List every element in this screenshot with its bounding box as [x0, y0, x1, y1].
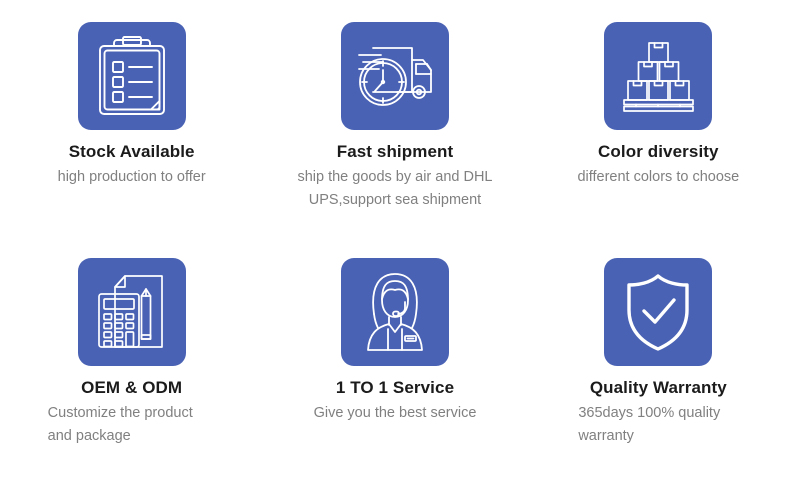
feature-subtitle: different colors to choose — [577, 166, 739, 189]
delivery-truck-clock-icon — [341, 22, 449, 130]
feature-card-one-to-one-service[interactable]: 1 TO 1 Service Give you the best service — [263, 250, 526, 486]
feature-subtitle: Customize the product and package — [48, 402, 216, 448]
feature-title: Stock Available — [69, 141, 195, 163]
features-grid: Stock Available high production to offer — [0, 0, 790, 494]
feature-card-color-diversity[interactable]: Color diversity different colors to choo… — [527, 14, 790, 250]
shield-check-icon — [604, 258, 712, 366]
feature-title: OEM & ODM — [81, 377, 182, 399]
feature-subtitle: 365days 100% quality warranty — [578, 402, 738, 448]
feature-subtitle: Give you the best service — [314, 402, 477, 425]
feature-card-quality-warranty[interactable]: Quality Warranty 365days 100% quality wa… — [527, 250, 790, 486]
feature-title: 1 TO 1 Service — [336, 377, 454, 399]
calculator-document-pencil-icon — [78, 258, 186, 366]
feature-title: Quality Warranty — [590, 377, 727, 399]
feature-card-fast-shipment[interactable]: Fast shipment ship the goods by air and … — [263, 14, 526, 250]
feature-subtitle: ship the goods by air and DHL UPS,suppor… — [286, 166, 504, 212]
feature-title: Color diversity — [598, 141, 719, 163]
clipboard-checklist-icon — [78, 22, 186, 130]
feature-card-oem-odm[interactable]: OEM & ODM Customize the product and pack… — [0, 250, 263, 486]
feature-title: Fast shipment — [337, 141, 454, 163]
feature-card-stock-available[interactable]: Stock Available high production to offer — [0, 14, 263, 250]
feature-subtitle: high production to offer — [58, 166, 206, 189]
headset-agent-icon — [341, 258, 449, 366]
stacked-boxes-pallet-icon — [604, 22, 712, 130]
